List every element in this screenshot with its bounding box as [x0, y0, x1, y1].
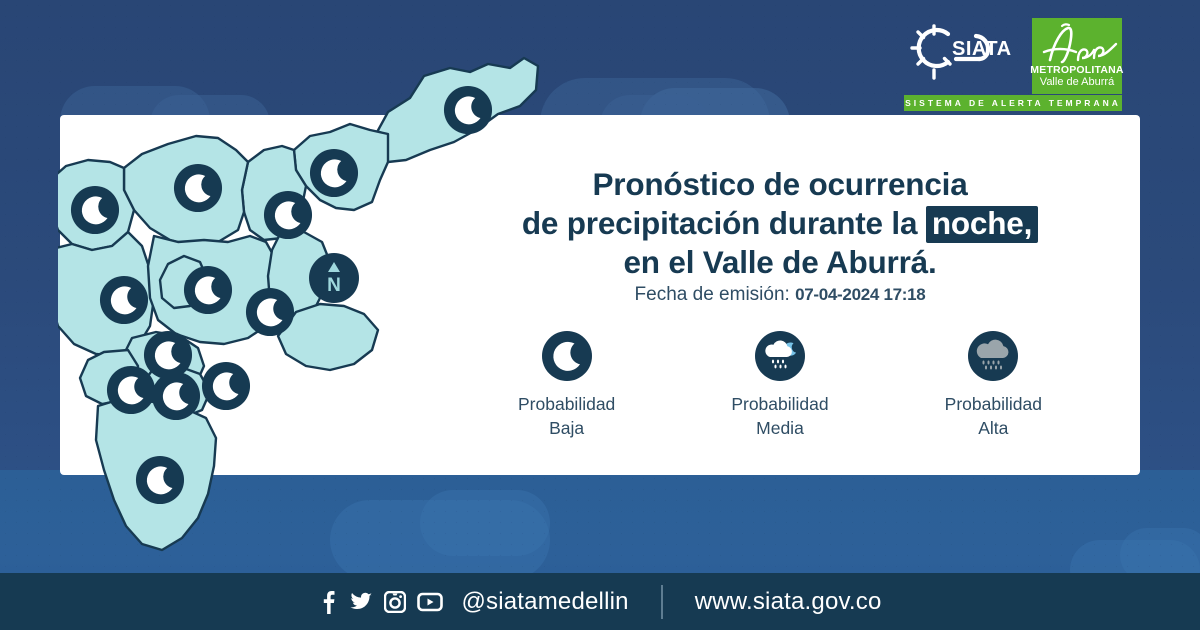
map-marker-bello-norte	[70, 185, 120, 235]
probability-legend: Probabilidad Baja	[460, 330, 1100, 440]
issue-date: Fecha de emisión: 07-04-2024 17:18	[460, 284, 1100, 306]
legend-item-alta: Probabilidad Alta	[903, 330, 1083, 440]
area-metropolitana-logo: METROPOLITANA Valle de Aburrá	[1032, 18, 1122, 94]
siata-logo: SIATA	[904, 18, 1024, 94]
legend-media-line2: Media	[756, 418, 804, 438]
moon-icon	[99, 275, 149, 325]
moon-icon	[443, 85, 493, 135]
siata-tagline-bar: SISTEMA DE ALERTA TEMPRANA	[904, 95, 1122, 111]
legend-media-line1: Probabilidad	[731, 394, 828, 414]
legend-label-media: Probabilidad Media	[731, 392, 828, 440]
moon-icon	[201, 361, 251, 411]
moon-icon	[151, 371, 201, 421]
legend-item-baja: Probabilidad Baja	[477, 330, 657, 440]
moon-icon	[183, 265, 233, 315]
logo-group: SIATA METROPOLITANA Valle de Aburrá	[904, 18, 1122, 94]
cloud-rain-moon-icon	[754, 330, 806, 382]
legend-alta-line1: Probabilidad	[945, 394, 1042, 414]
title-line-2-text: de precipitación durante la	[522, 205, 917, 241]
area-script-icon	[1032, 22, 1122, 66]
map-marker-medellin	[183, 265, 233, 315]
title-line-2: de precipitación durante la noche,	[460, 204, 1100, 243]
issue-date-value: 07-04-2024 17:18	[795, 285, 925, 304]
youtube-icon[interactable]	[417, 592, 443, 612]
map-marker-bello	[99, 275, 149, 325]
title-highlight-noche: noche,	[926, 206, 1038, 243]
moon-icon	[541, 330, 593, 382]
legend-alta-line2: Alta	[978, 418, 1008, 438]
map-marker-sabaneta	[106, 365, 156, 415]
legend-label-baja: Probabilidad Baja	[518, 392, 615, 440]
map-marker-barbosa	[443, 85, 493, 135]
infographic-root: N Pronóstico de ocurrencia de precipitac…	[0, 0, 1200, 630]
map-marker-la-estrella	[151, 371, 201, 421]
legend-baja-line1: Probabilidad	[518, 394, 615, 414]
cloud-heavy-rain-icon	[967, 330, 1019, 382]
moon-icon	[245, 287, 295, 337]
page-title: Pronóstico de ocurrencia de precipitació…	[460, 165, 1100, 282]
map-marker-caldas-norte	[201, 361, 251, 411]
instagram-icon[interactable]	[384, 591, 406, 613]
amva-line2: Valle de Aburrá	[1040, 76, 1114, 89]
map-marker-caldas	[135, 455, 185, 505]
issue-date-label: Fecha de emisión:	[635, 284, 790, 305]
moon-icon	[263, 190, 313, 240]
moon-icon	[70, 185, 120, 235]
siata-tagline-text: SISTEMA DE ALERTA TEMPRANA	[905, 98, 1121, 108]
moon-icon	[106, 365, 156, 415]
footer-bar: @siatamedellin www.siata.gov.co	[0, 573, 1200, 630]
twitter-icon[interactable]	[349, 590, 373, 614]
svg-text:SIATA: SIATA	[952, 38, 1012, 60]
map-marker-copacabana	[263, 190, 313, 240]
map-marker-san-pedro	[173, 163, 223, 213]
moon-icon	[173, 163, 223, 213]
legend-label-alta: Probabilidad Alta	[945, 392, 1042, 440]
map-marker-envigado	[245, 287, 295, 337]
facebook-icon[interactable]	[318, 590, 338, 614]
map-marker-girardota	[309, 148, 359, 198]
social-icons	[318, 590, 443, 614]
legend-item-media: Probabilidad Media	[690, 330, 870, 440]
compass-north-icon: N	[308, 252, 360, 304]
footer-divider	[661, 585, 663, 619]
legend-baja-line2: Baja	[549, 418, 584, 438]
website-url[interactable]: www.siata.gov.co	[695, 588, 882, 616]
svg-text:N: N	[327, 275, 341, 296]
social-handle[interactable]: @siatamedellin	[461, 588, 628, 616]
moon-icon	[135, 455, 185, 505]
title-line-1: Pronóstico de ocurrencia	[460, 165, 1100, 204]
valle-de-aburra-map: N	[58, 50, 558, 580]
title-line-3: en el Valle de Aburrá.	[460, 243, 1100, 282]
moon-icon	[309, 148, 359, 198]
